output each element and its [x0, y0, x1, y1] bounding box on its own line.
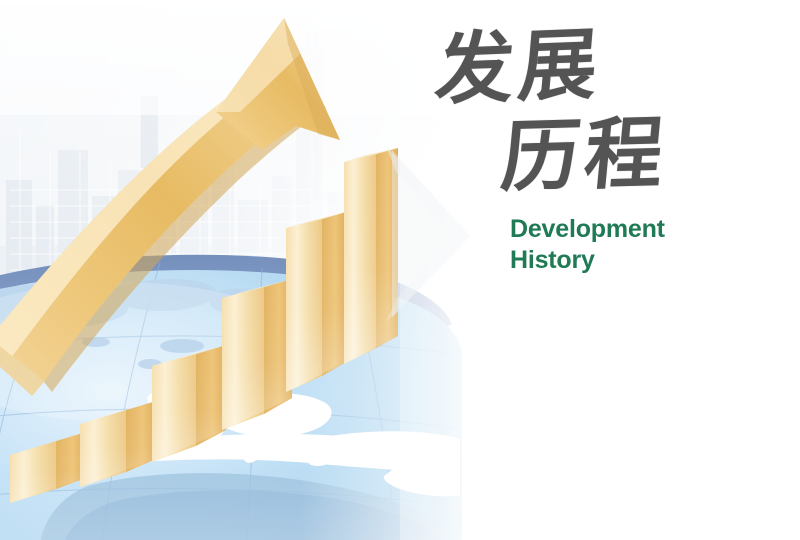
english-title-line-1: Development	[510, 214, 665, 245]
english-title: Development History	[510, 214, 665, 276]
calligraphy-line-2: 历程	[498, 112, 672, 201]
english-title-line-2: History	[510, 245, 665, 276]
title-block: 发展 历程 Development History	[430, 18, 760, 278]
development-history-banner: 发展 历程 Development History	[0, 0, 800, 540]
bar-5	[286, 212, 346, 392]
calligraphy-line-1: 发展	[432, 23, 605, 113]
bar-6	[344, 148, 398, 364]
